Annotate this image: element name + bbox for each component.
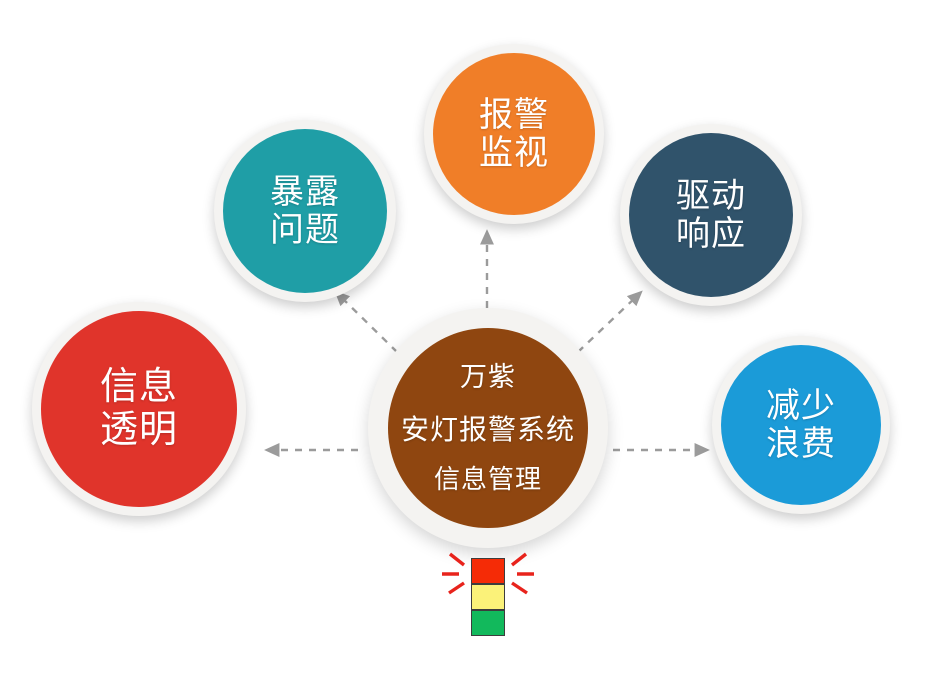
node-label-line-1: 信息 [100, 366, 178, 409]
node-label-line-1: 暴露 [270, 173, 340, 211]
center-label-line-3: 信息管理 [434, 465, 542, 494]
diagram-canvas: 报警 监视 暴露 问题 驱动 响应 信息 透明 减少 [0, 0, 939, 680]
node-info-transparent[interactable]: 信息 透明 [32, 302, 246, 516]
node-label-line-2: 监视 [479, 134, 549, 172]
node-label-group: 报警 监视 [424, 96, 604, 172]
center-label-line-2: 安灯报警系统 [401, 414, 575, 445]
node-reduce-waste[interactable]: 减少 浪费 [712, 336, 890, 514]
andon-lamp-green [471, 610, 505, 636]
center-label-group: 万紫 安灯报警系统 信息管理 [368, 362, 608, 495]
alarm-flash-rays [430, 546, 546, 612]
node-label-group: 暴露 问题 [214, 173, 396, 249]
node-label-group: 驱动 响应 [620, 177, 802, 253]
connector-arrow-up-right [578, 296, 637, 352]
node-label-group: 减少 浪费 [712, 387, 890, 463]
node-label-line-1: 减少 [766, 387, 836, 425]
node-label-line-2: 响应 [676, 215, 746, 253]
node-label-line-2: 浪费 [766, 425, 836, 463]
node-alarm-monitor[interactable]: 报警 监视 [424, 44, 604, 224]
node-label-line-1: 驱动 [676, 177, 746, 215]
connector-arrow-up-left [340, 296, 397, 352]
node-label-line-2: 透明 [100, 409, 178, 452]
node-drive-response[interactable]: 驱动 响应 [620, 124, 802, 306]
node-label-group: 信息 透明 [32, 366, 246, 451]
node-center-hub[interactable]: 万紫 安灯报警系统 信息管理 [368, 308, 608, 548]
node-label-line-2: 问题 [270, 211, 340, 249]
center-label-line-1: 万紫 [460, 362, 516, 392]
node-expose-problem[interactable]: 暴露 问题 [214, 120, 396, 302]
andon-light-tower [468, 558, 508, 642]
node-label-line-1: 报警 [479, 96, 549, 134]
